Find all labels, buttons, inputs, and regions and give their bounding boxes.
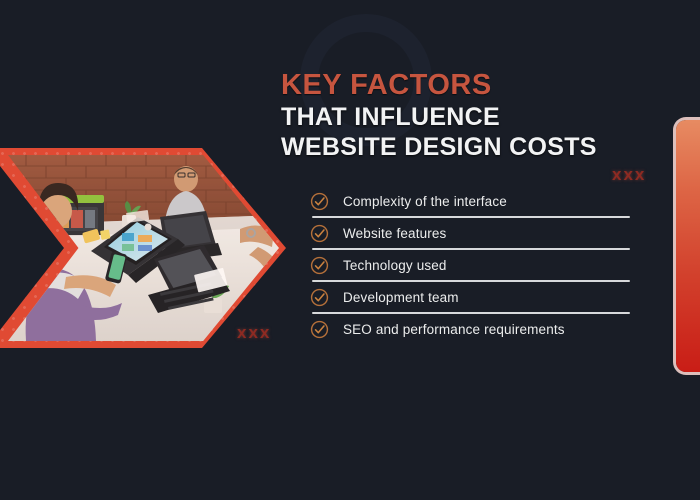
list-item-label: SEO and performance requirements [343,322,565,337]
list-item-label: Website features [343,226,446,241]
list-item-label: Technology used [343,258,447,273]
check-circle-icon [310,288,329,307]
list-item[interactable]: Website features [310,218,630,248]
xxx-decoration-right: xxx [612,165,646,185]
title-line-2: WEBSITE DESIGN COSTS [281,133,641,162]
title-line-1: THAT INFLUENCE [281,103,500,131]
title-main-block: THAT INFLUENCE WEBSITE DESIGN COSTS [281,103,641,162]
check-circle-icon [310,192,329,211]
list-item-label: Development team [343,290,459,305]
list-item[interactable]: Technology used [310,250,630,280]
list-item[interactable]: SEO and performance requirements [310,314,630,344]
right-accent-panel [676,120,700,372]
check-circle-icon [310,320,329,339]
xxx-decoration-left: xxx [237,323,271,343]
chevron-photo-frame [0,148,286,348]
slide-canvas: KEY FACTORS THAT INFLUENCE WEBSITE DESIG… [0,0,700,500]
feature-list: Complexity of the interface Website feat… [310,186,630,344]
team-photo-illustration [8,155,279,341]
check-circle-icon [310,256,329,275]
page-title: KEY FACTORS THAT INFLUENCE WEBSITE DESIG… [281,70,641,162]
list-item[interactable]: Development team [310,282,630,312]
team-photo [8,155,279,341]
list-item-label: Complexity of the interface [343,194,507,209]
check-circle-icon [310,224,329,243]
list-item[interactable]: Complexity of the interface [310,186,630,216]
title-accent-line: KEY FACTORS [281,70,641,100]
